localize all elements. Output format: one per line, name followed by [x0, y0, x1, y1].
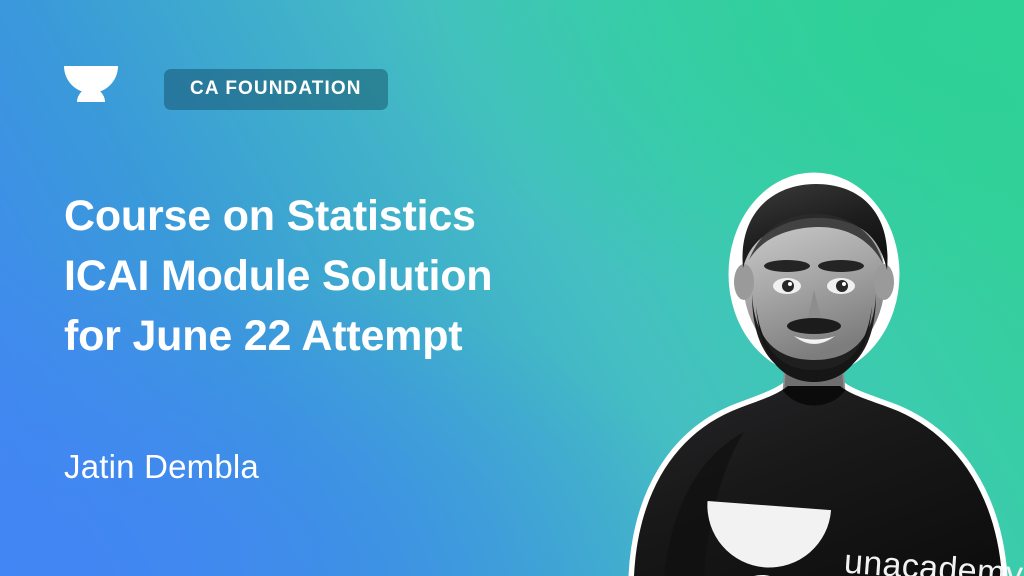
course-title: Course on Statistics ICAI Module Solutio… — [64, 186, 624, 366]
course-promo-banner: CA FOUNDATION Course on Statistics ICAI … — [0, 0, 1024, 576]
course-title-line-2: ICAI Module Solution — [64, 246, 624, 306]
educator-portrait-cutout: unacademy — [604, 164, 1024, 576]
shirt-brand-wordmark: unacademy — [843, 545, 1024, 576]
educator-name: Jatin Dembla — [64, 445, 259, 489]
header-bar: CA FOUNDATION — [62, 62, 388, 116]
unacademy-bowl-icon — [695, 489, 835, 576]
unacademy-bowl-logo-icon[interactable] — [62, 62, 120, 116]
category-badge[interactable]: CA FOUNDATION — [164, 69, 388, 110]
course-title-line-3: for June 22 Attempt — [64, 306, 624, 366]
course-title-line-1: Course on Statistics — [64, 186, 624, 246]
